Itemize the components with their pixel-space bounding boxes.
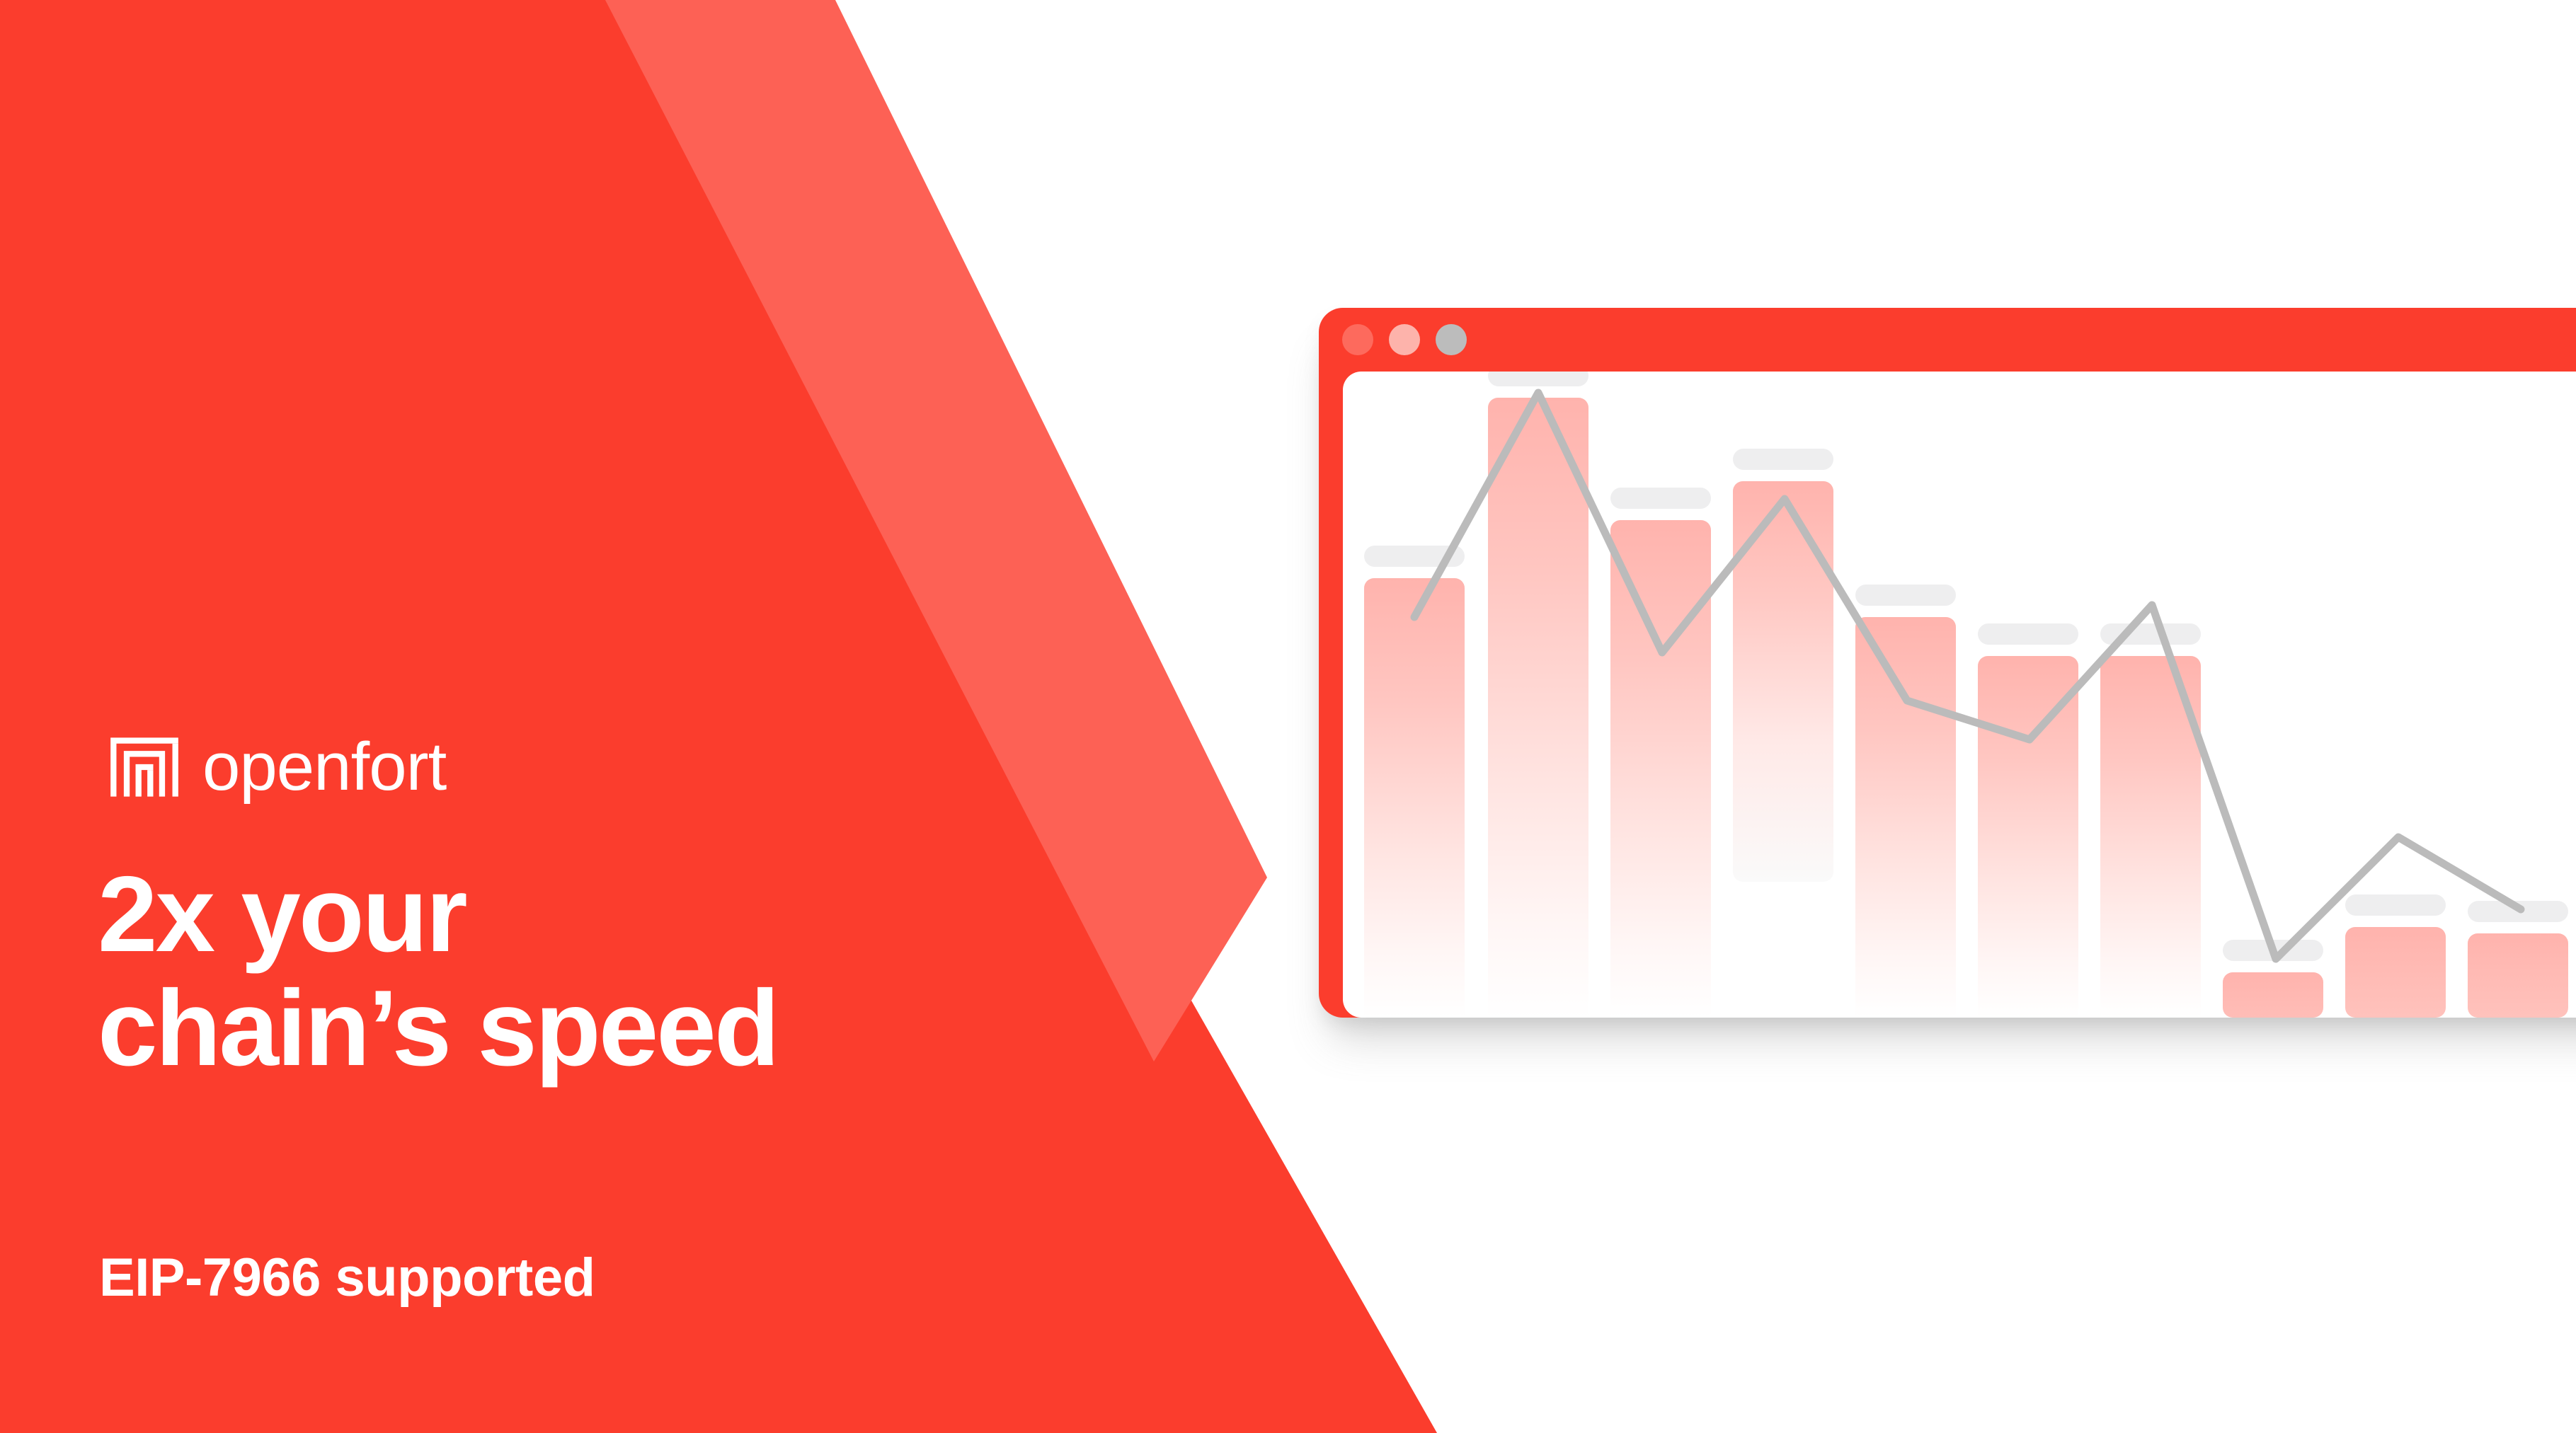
headline-line-1: 2x your — [98, 858, 1046, 972]
subheadline: EIP-7966 supported — [99, 1247, 595, 1308]
dashboard-chart — [1343, 372, 2576, 1018]
traffic-light-dots — [1342, 324, 1467, 355]
browser-viewport — [1343, 372, 2576, 1018]
poster-canvas: openfort 2x your chain’s speed EIP-7966 … — [0, 0, 2576, 1433]
brand-lockup: openfort — [108, 730, 446, 804]
minimize-dot-icon[interactable] — [1389, 324, 1420, 355]
openfort-logo-icon — [108, 730, 181, 804]
chart-trend-line — [1343, 372, 2576, 1018]
close-dot-icon[interactable] — [1342, 324, 1373, 355]
maximize-dot-icon[interactable] — [1436, 324, 1467, 355]
headline-line-2: chain’s speed — [98, 972, 1046, 1086]
browser-window-mockup — [1319, 308, 2576, 1018]
headline: 2x your chain’s speed — [98, 858, 1046, 1086]
browser-titlebar — [1319, 308, 2576, 372]
brand-name: openfort — [202, 733, 446, 801]
